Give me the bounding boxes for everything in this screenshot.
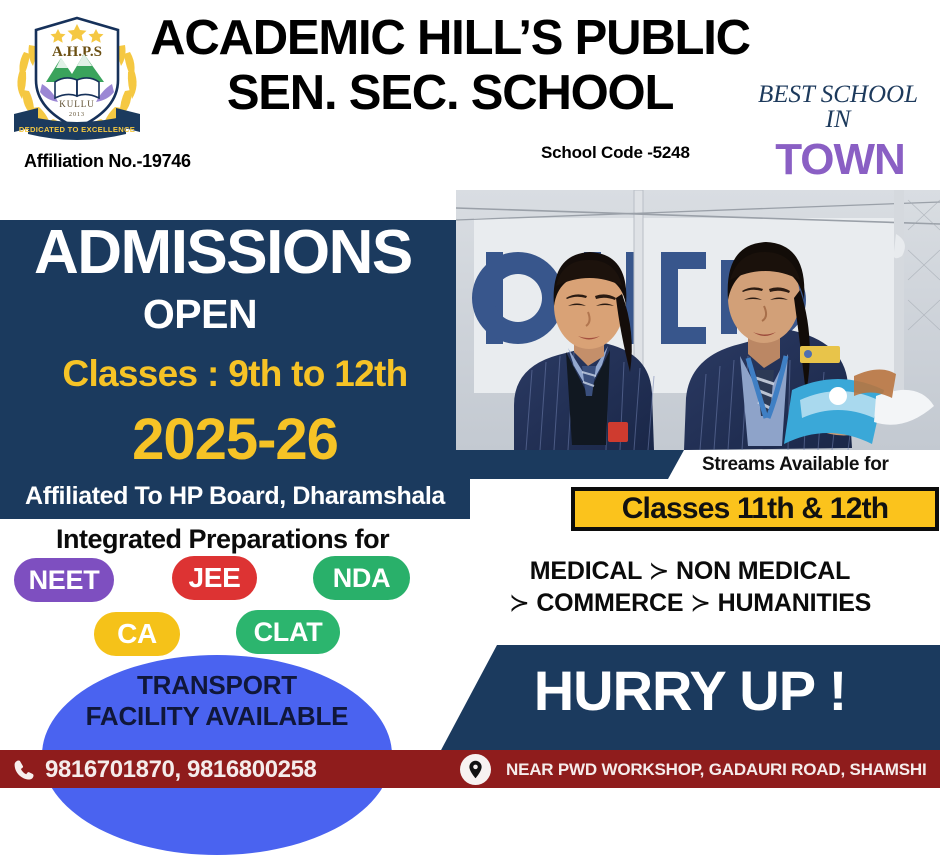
exam-pill-nda-label: NDA bbox=[333, 563, 391, 594]
exam-pill-jee: JEE bbox=[172, 556, 257, 600]
stream-separator-icon: ≻ bbox=[509, 589, 530, 617]
students-photo bbox=[456, 190, 940, 450]
streams-row-1: MEDICAL ≻ NON MEDICAL bbox=[470, 556, 910, 588]
senior-classes-badge: Classes 11th & 12th bbox=[571, 487, 939, 531]
streams-banner: Streams Available for bbox=[668, 450, 940, 479]
stream-humanities: HUMANITIES bbox=[718, 589, 872, 617]
classes-offered: Classes : 9th to 12th bbox=[0, 355, 470, 392]
logo-monogram: A.H.P.S bbox=[52, 44, 102, 60]
academic-session: 2025-26 bbox=[0, 411, 470, 469]
stream-medical: MEDICAL bbox=[530, 557, 642, 585]
exam-pill-neet: NEET bbox=[14, 558, 114, 602]
affiliation-number: Affiliation No.-19746 bbox=[24, 151, 191, 172]
streams-list: MEDICAL ≻ NON MEDICAL ≻ COMMERCE ≻ HUMAN… bbox=[470, 556, 910, 619]
exam-pill-ca-label: CA bbox=[117, 618, 157, 650]
location-pin-icon bbox=[460, 754, 491, 785]
admissions-heading: ADMISSIONS bbox=[0, 222, 470, 284]
admissions-subheading: OPEN bbox=[0, 294, 400, 335]
stream-separator-icon: ≻ bbox=[690, 589, 711, 617]
stream-commerce: COMMERCE bbox=[536, 589, 683, 617]
school-address: NEAR PWD WORKSHOP, GADAURI ROAD, SHAMSHI bbox=[506, 760, 926, 780]
cta-text: HURRY UP ! bbox=[440, 663, 940, 719]
admission-poster: A.H.P.S KULLU 2013 DEDICATED TO EXCELLEN… bbox=[0, 0, 940, 788]
phone-icon bbox=[12, 758, 36, 782]
stream-separator-icon: ≻ bbox=[649, 557, 670, 585]
senior-classes-label: Classes 11th & 12th bbox=[622, 492, 889, 526]
exam-pill-nda: NDA bbox=[313, 556, 410, 600]
tagline: BEST SCHOOL IN bbox=[742, 82, 934, 132]
school-name-line1: ACADEMIC HILL’S PUBLIC bbox=[150, 11, 750, 65]
exam-pill-ca: CA bbox=[94, 612, 180, 656]
tagline-highlight: TOWN bbox=[742, 138, 938, 182]
logo-place: KULLU bbox=[59, 99, 95, 109]
school-code: School Code -5248 bbox=[541, 143, 690, 163]
transport-facility-text: TRANSPORT FACILITY AVAILABLE bbox=[42, 670, 392, 732]
school-logo: A.H.P.S KULLU 2013 DEDICATED TO EXCELLEN… bbox=[6, 4, 148, 146]
preparations-heading: Integrated Preparations for bbox=[56, 524, 389, 555]
tagline-line2: IN bbox=[742, 107, 934, 132]
board-affiliation: Affiliated To HP Board, Dharamshala bbox=[0, 484, 470, 509]
stream-non-medical: NON MEDICAL bbox=[676, 557, 850, 585]
tagline-line1: BEST SCHOOL bbox=[758, 81, 918, 108]
exam-pill-clat-label: CLAT bbox=[254, 617, 323, 648]
logo-year: 2013 bbox=[69, 112, 85, 118]
streams-row-2: ≻ COMMERCE ≻ HUMANITIES bbox=[470, 588, 910, 620]
exam-pill-neet-label: NEET bbox=[29, 565, 100, 596]
transport-line2: FACILITY AVAILABLE bbox=[42, 701, 392, 732]
school-name-line2: SEN. SEC. SCHOOL bbox=[150, 69, 750, 118]
transport-line1: TRANSPORT bbox=[42, 670, 392, 701]
school-name-title: ACADEMIC HILL’S PUBLIC SEN. SEC. SCHOOL bbox=[150, 14, 750, 117]
exam-pill-jee-label: JEE bbox=[188, 562, 240, 594]
phone-numbers[interactable]: 9816701870, 9816800258 bbox=[45, 756, 317, 784]
streams-banner-label: Streams Available for bbox=[702, 454, 889, 476]
logo-ribbon-text: DEDICATED TO EXCELLENCE bbox=[19, 125, 135, 134]
exam-pill-clat: CLAT bbox=[236, 610, 340, 654]
